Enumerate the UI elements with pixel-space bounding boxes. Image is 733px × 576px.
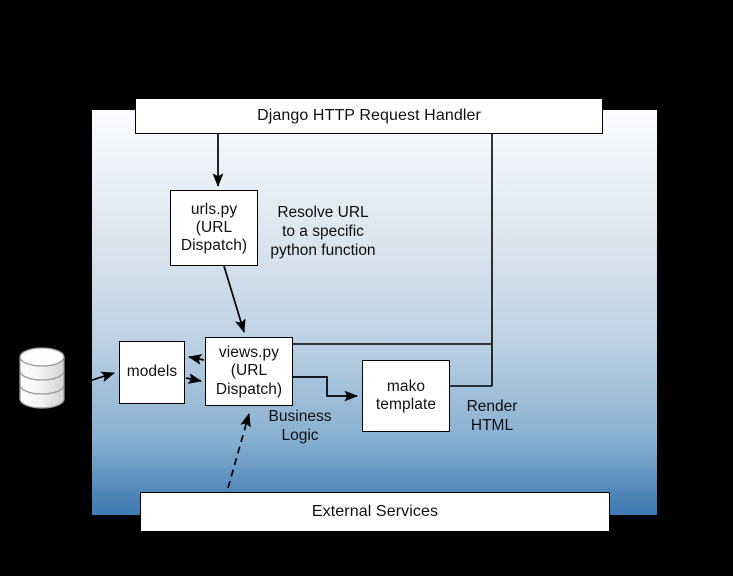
mako-label-line1: mako bbox=[376, 378, 436, 396]
urls-label: urls.py (URL Dispatch) bbox=[181, 201, 247, 256]
annotation-business-logic: Business Logic bbox=[250, 408, 350, 446]
database-cylinder-icon bbox=[20, 348, 64, 408]
node-mako-template[interactable]: mako template bbox=[362, 360, 450, 432]
annotation-resolve-url: Resolve URL to a specific python functio… bbox=[258, 204, 388, 261]
node-models[interactable]: models bbox=[119, 341, 185, 404]
mako-label-line2: template bbox=[376, 396, 436, 414]
views-label-line1: views.py bbox=[216, 344, 282, 362]
node-views-py[interactable]: views.py (URL Dispatch) bbox=[205, 337, 293, 406]
views-label-line2: (URL bbox=[216, 362, 282, 380]
models-label: models bbox=[127, 363, 178, 381]
node-urls-py[interactable]: urls.py (URL Dispatch) bbox=[170, 190, 258, 266]
gradient-backdrop-panel bbox=[92, 110, 657, 515]
views-label-line3: Dispatch) bbox=[216, 381, 282, 399]
external-services-label: External Services bbox=[312, 503, 438, 522]
node-external-services[interactable]: External Services bbox=[140, 492, 610, 532]
mako-label: mako template bbox=[376, 378, 436, 415]
diagram-canvas: Django HTTP Request Handler urls.py (URL… bbox=[0, 0, 733, 576]
annotation-render-html: Render HTML bbox=[456, 398, 528, 436]
node-django-http-request-handler[interactable]: Django HTTP Request Handler bbox=[135, 98, 603, 134]
views-label: views.py (URL Dispatch) bbox=[216, 344, 282, 399]
urls-label-line2: (URL bbox=[181, 219, 247, 237]
header-label: Django HTTP Request Handler bbox=[257, 107, 481, 126]
urls-label-line3: Dispatch) bbox=[181, 237, 247, 255]
urls-label-line1: urls.py bbox=[181, 201, 247, 219]
